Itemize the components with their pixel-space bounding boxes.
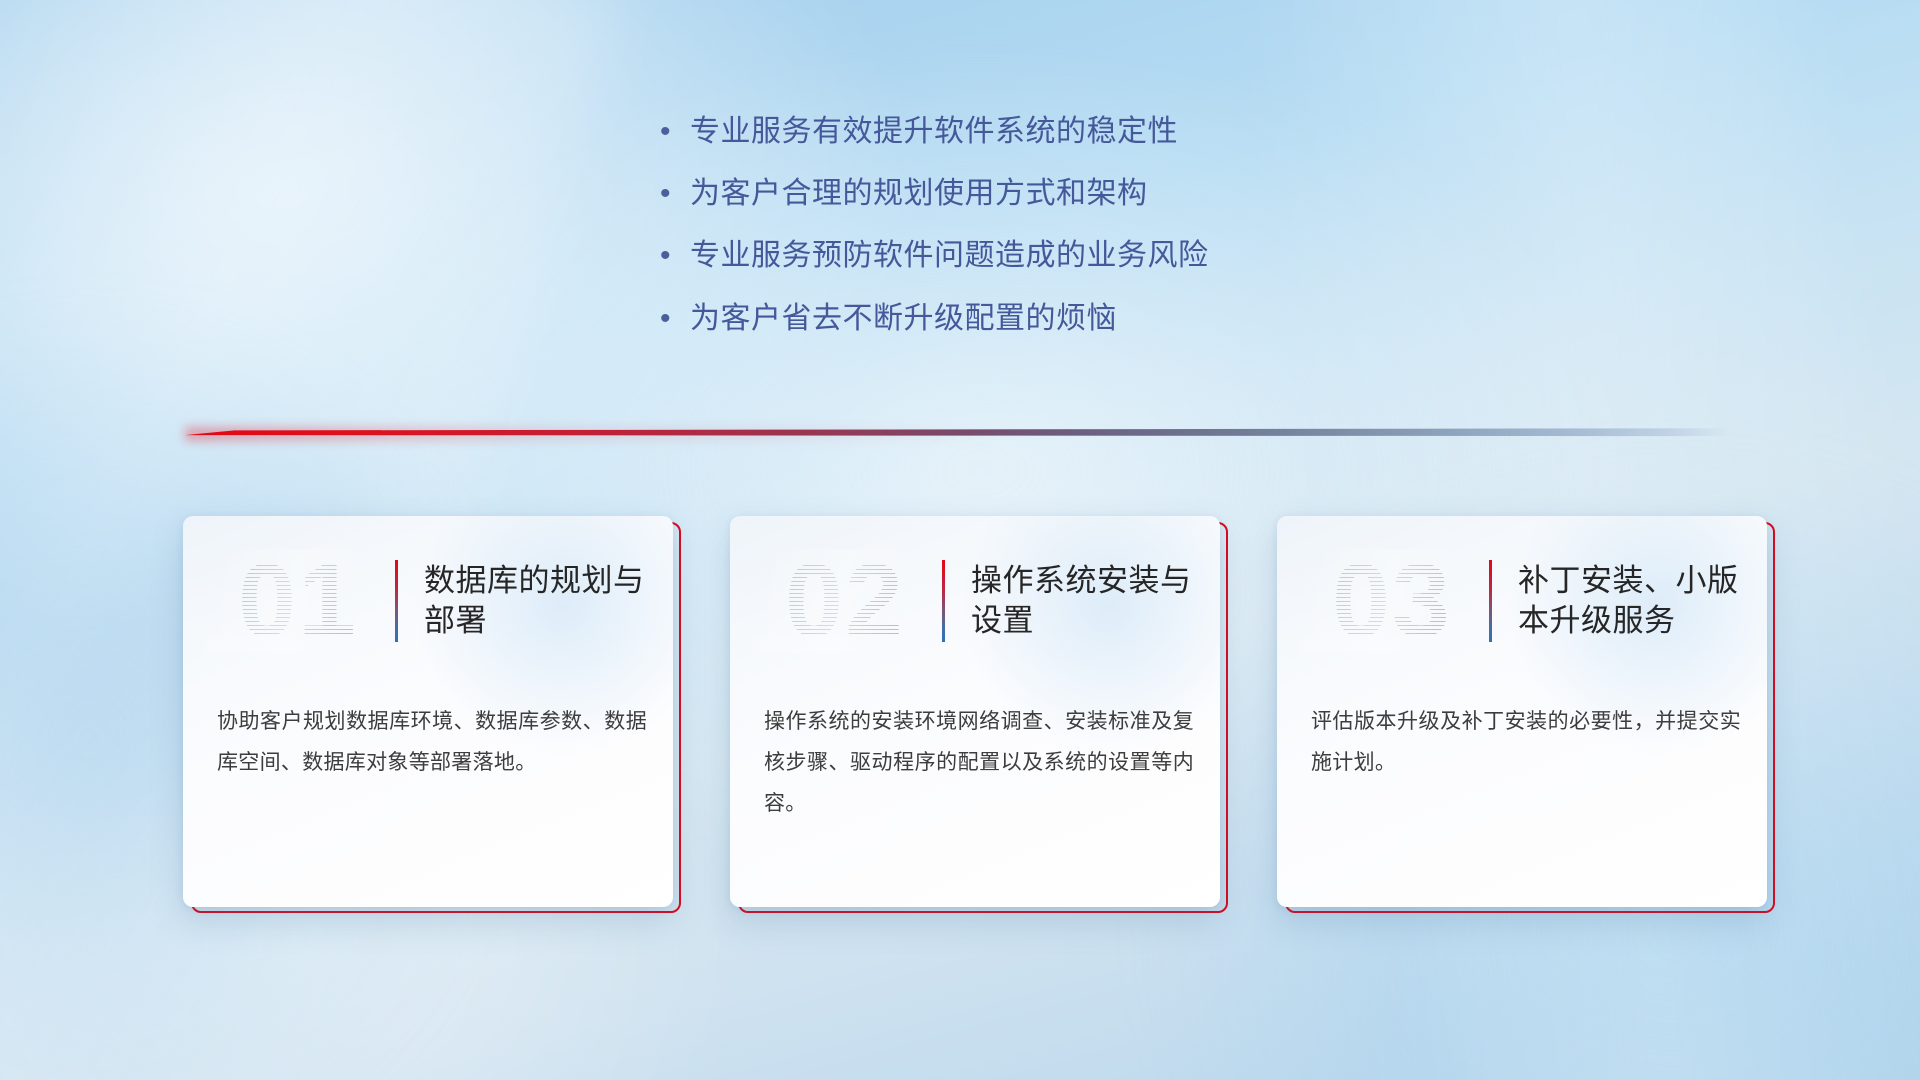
bullet-dot-icon: •: [660, 241, 690, 271]
card-divider-bar: [1489, 560, 1492, 642]
card-header: 03 补丁安装、小版本升级服务: [1277, 542, 1767, 660]
service-cards: 01 数据库的规划与部署 协助客户规划数据库环境、数据库参数、数据库空间、数据库…: [183, 516, 1767, 907]
service-card-01[interactable]: 01 数据库的规划与部署 协助客户规划数据库环境、数据库参数、数据库空间、数据库…: [183, 516, 673, 907]
list-item: • 专业服务预防软件问题造成的业务风险: [660, 236, 1209, 276]
card-title: 操作系统安装与设置: [971, 561, 1220, 642]
card-header: 02 操作系统安装与设置: [730, 542, 1220, 660]
list-item: • 为客户省去不断升级配置的烦恼: [660, 299, 1209, 339]
bullet-text: 专业服务预防软件问题造成的业务风险: [690, 236, 1209, 276]
benefits-bullet-list: • 专业服务有效提升软件系统的稳定性 • 为客户合理的规划使用方式和架构 • 专…: [660, 112, 1209, 339]
bullet-dot-icon: •: [660, 304, 690, 334]
list-item: • 为客户合理的规划使用方式和架构: [660, 174, 1209, 214]
card-title: 补丁安装、小版本升级服务: [1518, 561, 1767, 642]
card-divider-bar: [395, 560, 398, 642]
bullet-text: 专业服务有效提升软件系统的稳定性: [690, 112, 1178, 152]
card-title: 数据库的规划与部署: [424, 561, 673, 642]
card-surface: 02 操作系统安装与设置 操作系统的安装环境网络调查、安装标准及复核步骤、驱动程…: [730, 516, 1220, 907]
card-header: 01 数据库的规划与部署: [183, 542, 673, 660]
card-number-watermark: 01: [205, 549, 391, 653]
bullet-text: 为客户合理的规划使用方式和架构: [690, 174, 1148, 214]
bullet-dot-icon: •: [660, 179, 690, 209]
service-card-02[interactable]: 02 操作系统安装与设置 操作系统的安装环境网络调查、安装标准及复核步骤、驱动程…: [730, 516, 1220, 907]
list-item: • 专业服务有效提升软件系统的稳定性: [660, 112, 1209, 152]
card-number-watermark: 03: [1299, 549, 1485, 653]
card-description: 评估版本升级及补丁安装的必要性，并提交实施计划。: [1311, 702, 1741, 784]
card-description: 操作系统的安装环境网络调查、安装标准及复核步骤、驱动程序的配置以及系统的设置等内…: [764, 702, 1194, 825]
section-divider: [185, 425, 1730, 443]
card-description: 协助客户规划数据库环境、数据库参数、数据库空间、数据库对象等部署落地。: [217, 702, 647, 784]
bullet-text: 为客户省去不断升级配置的烦恼: [690, 299, 1117, 339]
card-surface: 01 数据库的规划与部署 协助客户规划数据库环境、数据库参数、数据库空间、数据库…: [183, 516, 673, 907]
card-surface: 03 补丁安装、小版本升级服务 评估版本升级及补丁安装的必要性，并提交实施计划。: [1277, 516, 1767, 907]
card-number-watermark: 02: [752, 549, 938, 653]
bullet-dot-icon: •: [660, 117, 690, 147]
service-card-03[interactable]: 03 补丁安装、小版本升级服务 评估版本升级及补丁安装的必要性，并提交实施计划。: [1277, 516, 1767, 907]
card-divider-bar: [942, 560, 945, 642]
